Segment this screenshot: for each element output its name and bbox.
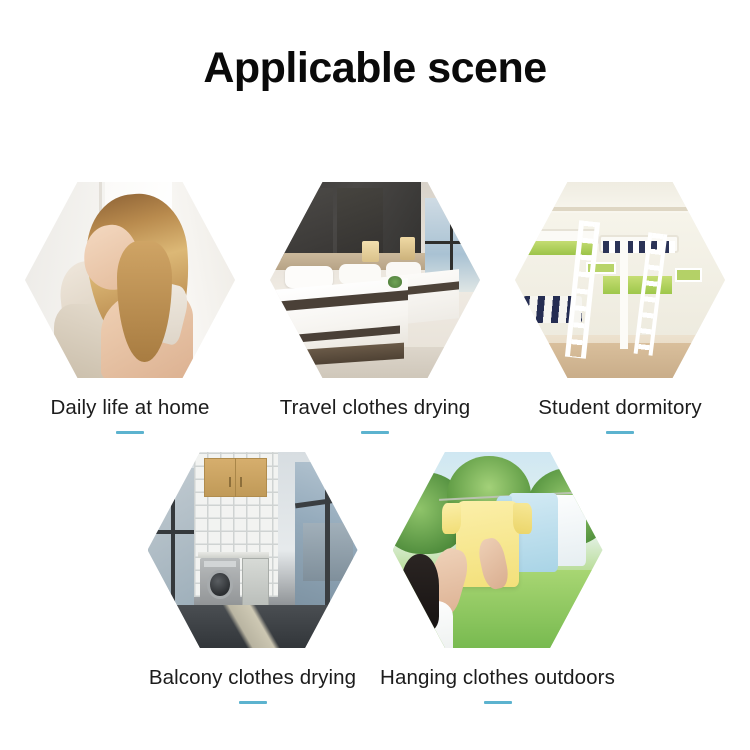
scene-row-bottom: Balcony clothes drying Hanging clothes o… — [0, 452, 750, 704]
photo-balcony-laundry — [148, 452, 358, 648]
scene-card-balcony-clothes-drying[interactable]: Balcony clothes drying — [130, 452, 375, 704]
caption-underline-dash — [361, 431, 389, 434]
photo-hanging-clothes-outdoors — [393, 452, 603, 648]
scene-card-student-dormitory[interactable]: Student dormitory — [498, 182, 743, 434]
applicable-scene-page: Applicable scene Daily life at home — [0, 0, 750, 750]
scene-caption: Balcony clothes drying — [149, 666, 356, 690]
scene-card-travel-clothes-drying[interactable]: Travel clothes drying — [253, 182, 498, 434]
scene-caption: Student dormitory — [538, 396, 702, 420]
scene-row-top: Daily life at home Travel clothes drying — [0, 182, 750, 434]
caption-underline-dash — [116, 431, 144, 434]
scene-caption: Hanging clothes outdoors — [380, 666, 615, 690]
caption-underline-dash — [239, 701, 267, 704]
scene-card-hanging-clothes-outdoors[interactable]: Hanging clothes outdoors — [375, 452, 620, 704]
scene-image-travel-clothes-drying[interactable] — [270, 182, 480, 378]
caption-underline-dash — [606, 431, 634, 434]
scene-image-hanging-clothes-outdoors[interactable] — [393, 452, 603, 648]
caption-underline-dash — [484, 701, 512, 704]
scene-image-balcony-clothes-drying[interactable] — [148, 452, 358, 648]
scene-image-daily-life-at-home[interactable] — [25, 182, 235, 378]
page-title: Applicable scene — [0, 46, 750, 91]
page-title-container: Applicable scene — [0, 46, 750, 91]
scene-caption: Travel clothes drying — [280, 396, 470, 420]
scene-caption: Daily life at home — [50, 396, 209, 420]
photo-hotel-twin-beds — [270, 182, 480, 378]
scene-image-student-dormitory[interactable] — [515, 182, 725, 378]
scene-card-daily-life-at-home[interactable]: Daily life at home — [8, 182, 253, 434]
photo-woman-with-towel — [25, 182, 235, 378]
photo-dorm-bunk-beds — [515, 182, 725, 378]
